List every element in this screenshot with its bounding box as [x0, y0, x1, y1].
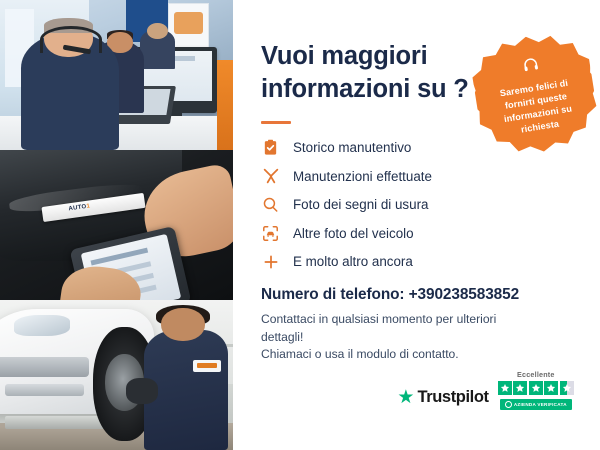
person-back-head — [147, 23, 168, 40]
front-grill — [0, 357, 89, 377]
list-item: Manutenzioni effettuate — [261, 167, 570, 186]
contact-line-1: Contattaci in qualsiasi momento per ulte… — [261, 311, 541, 346]
call-center-photo — [0, 0, 233, 150]
badge-text: Saremo felici di fornirti queste informa… — [475, 73, 600, 142]
feature-list: Storico manutentivo Manutenzioni effettu… — [261, 138, 570, 271]
phone-number[interactable]: Numero di telefono: +390238583852 — [261, 286, 570, 304]
mechanic-head — [161, 308, 205, 341]
star-icon — [529, 381, 543, 395]
trustpilot-wordmark: Trustpilot — [417, 388, 488, 407]
list-item: Altre foto del veicolo — [261, 224, 570, 243]
rating-label: Eccellente — [517, 370, 555, 379]
tools-cross-icon — [261, 167, 280, 186]
star-icon — [544, 381, 558, 395]
photo-column: AUTO1 — [0, 0, 233, 450]
star-rating — [498, 381, 574, 395]
info-promo-card: AUTO1 Vuoi maggiori informazioni su ? — [0, 0, 600, 450]
headlight — [14, 315, 70, 336]
feature-label: Altre foto del veicolo — [293, 227, 414, 240]
star-icon-half — [560, 381, 574, 395]
orange-panel — [217, 60, 233, 150]
feature-label: E molto altro ancora — [293, 255, 413, 268]
uniform-logo — [193, 360, 221, 372]
trustpilot-widget[interactable]: ★ Trustpilot Eccellente — [397, 370, 574, 410]
lift-ramp — [5, 416, 108, 430]
headset-icon — [521, 55, 541, 79]
star-icon — [513, 381, 527, 395]
list-item: Foto dei segni di usura — [261, 195, 570, 214]
trustpilot-star-icon: ★ — [397, 388, 414, 407]
trustpilot-logo: ★ Trustpilot — [397, 388, 488, 410]
star-icon — [498, 381, 512, 395]
verified-label: AZIENDA VERIFICATA — [514, 402, 567, 407]
trustpilot-rating-block: Eccellente — [498, 370, 574, 410]
clipboard-check-icon — [261, 138, 280, 157]
magnifier-icon — [261, 195, 280, 214]
feature-label: Storico manutentivo — [293, 141, 411, 154]
title-divider — [261, 121, 291, 124]
plus-icon — [261, 252, 280, 271]
mechanic-glove — [126, 378, 159, 404]
car-inspection-photo: AUTO1 — [0, 150, 233, 300]
photo-frame-car-icon — [261, 224, 280, 243]
feature-label: Foto dei segni di usura — [293, 198, 428, 211]
contact-line-2: Chiamaci o usa il modulo di contatto. — [261, 346, 541, 364]
lower-grill — [5, 384, 84, 396]
feature-label: Manutenzioni effettuate — [293, 170, 432, 183]
list-item: E molto altro ancora — [261, 252, 570, 271]
page-title: Vuoi maggiori informazioni su ? — [261, 40, 476, 105]
check-circle-icon — [505, 401, 512, 408]
verified-company-badge: AZIENDA VERIFICATA — [500, 399, 572, 410]
workshop-wheel-photo — [0, 300, 233, 450]
content-panel: Vuoi maggiori informazioni su ? Storico … — [233, 0, 600, 450]
